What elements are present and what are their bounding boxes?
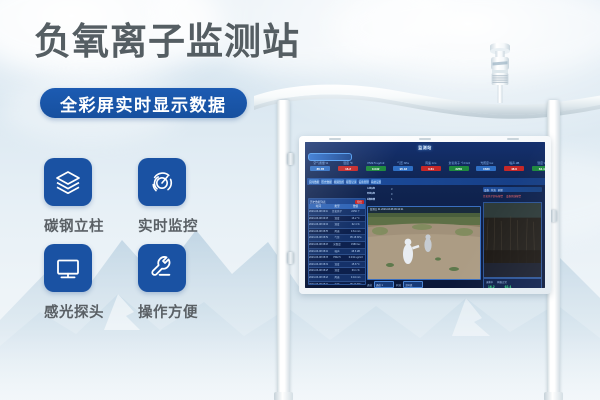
mini-stat-value: 0 (391, 193, 392, 196)
right-panel-header: 设备状态刷新 负氧离子超标报警设备离线报警 (483, 187, 542, 199)
nav-item[interactable]: 历史数据 (321, 179, 331, 184)
table-cell: 62.4 % (346, 222, 365, 228)
kpi-row: 空气质量 %85.78温度 ℃16.2PM2.5 ug/m30.032气压 hP… (307, 161, 545, 175)
export-button[interactable]: 导出 (355, 200, 364, 204)
right-toolbar-label: 设备 (484, 188, 489, 192)
status-value: 62.4 (505, 285, 512, 288)
right-toolbar[interactable]: 设备状态刷新 (483, 187, 542, 192)
table-row[interactable]: 2023-03-08 08:55:21风速0.61 m/s (309, 229, 365, 236)
kpi-item: 噪声 dB48.6 (501, 161, 528, 175)
kpi-label: 气压 hPa (398, 161, 410, 165)
video-control-label: 通道 (367, 283, 372, 287)
kpi-value: 16.2 (338, 166, 358, 171)
feature-item-steel-post[interactable]: 碳钢立柱 (44, 158, 138, 244)
station-name-pill (308, 153, 352, 161)
kpi-label: 负氧离子 个/cm3 (448, 161, 469, 165)
table-row[interactable]: 2023-03-08 09:05:21温度16.2 ℃ (309, 216, 365, 223)
status-label: 录像中 (486, 280, 493, 284)
table-cell: 2023-03-08 08:55:21 (309, 229, 328, 235)
table-row[interactable]: 2023-03-08 08:20:21风速0.44 m/s (309, 275, 365, 282)
status-value: 16.2 (488, 285, 495, 288)
kpi-label: 空气质量 % (313, 161, 328, 165)
screw (329, 138, 341, 140)
screw (419, 138, 431, 140)
table-cell: 温度 (328, 216, 347, 222)
dashboard: 监测站 空气质量 %85.78温度 ℃16.2PM2.5 ug/m30.032气… (305, 142, 545, 288)
feature-label: 实时监控 (138, 215, 224, 236)
table-cell: 风速 (328, 275, 347, 281)
table-row[interactable]: 2023-03-08 08:30:21温度15.8 ℃ (309, 262, 365, 269)
kpi-label: 噪声 dB (509, 161, 519, 165)
table-cell: 2023-03-08 08:50:21 (309, 235, 328, 241)
feature-item-easy-operation[interactable]: 操作方便 (138, 244, 232, 330)
feature-grid: 碳钢立柱 实时监控 (44, 158, 232, 330)
table-row[interactable]: 2023-03-08 08:35:21PM2.50.032 ug/m3 (309, 255, 365, 262)
feature-label: 感光探头 (44, 301, 130, 322)
history-table[interactable]: 历史数据列表 导出 时间类型数值 2023-03-08 09:10:21负氧离子… (308, 198, 366, 285)
post-base (544, 392, 563, 400)
table-cell: 2023-03-08 08:25:21 (309, 268, 328, 274)
table-cell: 湿度 (328, 222, 347, 228)
kpi-label: 光照度 lux (480, 161, 493, 165)
kpi-item: PM2.5 ug/m30.032 (362, 161, 389, 175)
table-cell: 48.6 dB (346, 249, 365, 255)
feature-item-realtime-monitor[interactable]: 实时监控 (138, 158, 232, 244)
table-row[interactable]: 2023-03-08 08:45:21光照度1580 lux (309, 242, 365, 249)
kpi-value: 1580 (476, 166, 496, 171)
kpi-value: 62.4 (532, 166, 545, 171)
kpi-item: 温度 ℃16.2 (335, 161, 362, 175)
dashboard-header: 监测站 (305, 142, 545, 153)
video-frame (368, 207, 480, 279)
table-cell: PM2.5 (328, 255, 347, 261)
kpi-value: 0.032 (366, 166, 386, 171)
mini-stat-value: 3 (391, 188, 392, 191)
table-cell: 风速 (328, 229, 347, 235)
table-cell: 0.032 ug/m3 (346, 255, 365, 261)
mini-stat: 报警数量1 (367, 198, 411, 202)
nav-item[interactable]: 实时数据 (309, 179, 319, 184)
monitoring-station: 监测站 空气质量 %85.78温度 ℃16.2PM2.5 ug/m30.032气… (258, 36, 600, 400)
alarm-list: 负氧离子超标报警设备离线报警 (483, 194, 542, 198)
table-row[interactable]: 2023-03-08 08:15:21气压95.20 hPa (309, 282, 365, 285)
table-cell: 2023-03-08 08:20:21 (309, 275, 328, 281)
subtitle-badge: 全彩屏实时显示数据 (40, 88, 247, 118)
table-cell: 2023-03-08 08:15:21 (309, 282, 328, 285)
table-cell: 噪声 (328, 249, 347, 255)
table-row[interactable]: 2023-03-08 09:10:21负氧离子2250 个 (309, 209, 365, 216)
screw (507, 138, 519, 140)
table-cell: 2023-03-08 08:35:21 (309, 255, 328, 261)
table-cell: 2023-03-08 09:10:21 (309, 209, 328, 215)
video-overlay-text: 监测点 01 2023-03-08 09:10:21 (368, 207, 480, 213)
kpi-value: 0.61 (421, 166, 441, 171)
table-title: 历史数据列表 (310, 200, 326, 204)
table-row[interactable]: 2023-03-08 09:00:21湿度62.4 % (309, 222, 365, 229)
table-cell: 2250 个 (346, 209, 365, 215)
table-cell: 温度 (328, 262, 347, 268)
table-cell: 15.8 ℃ (346, 262, 365, 268)
layers-icon (44, 158, 92, 206)
post-clamp (287, 153, 294, 165)
kpi-value: 85.78 (310, 166, 330, 171)
table-cell: 63.1 % (346, 268, 365, 274)
dashboard-title: 监测站 (418, 145, 432, 151)
mini-stat: 离线设备0 (367, 192, 411, 196)
led-screen[interactable]: 监测站 空气质量 %85.78温度 ℃16.2PM2.5 ug/m30.032气… (305, 142, 545, 288)
right-toolbar-label: 状态 (491, 188, 496, 192)
status-label: 网络正常 (497, 280, 507, 284)
table-cell: 95.18 hPa (346, 235, 365, 241)
camera-frame (484, 203, 541, 263)
mini-stat: 在线设备3 (367, 187, 411, 191)
feature-label: 操作方便 (138, 301, 224, 322)
table-cell: 湿度 (328, 268, 347, 274)
table-cell: 2023-03-08 08:30:21 (309, 262, 328, 268)
secondary-camera-feed[interactable] (483, 202, 542, 278)
table-cell: 2023-03-08 09:00:21 (309, 222, 328, 228)
kpi-label: PM2.5 ug/m3 (367, 161, 384, 165)
feature-item-light-sensor[interactable]: 感光探头 (44, 244, 138, 330)
alarm-item[interactable]: 负氧离子超标报警 (483, 194, 503, 198)
monitor-icon (44, 244, 92, 292)
table-cell: 1580 lux (346, 242, 365, 248)
kpi-item: 风速 m/s0.61 (418, 161, 445, 175)
kpi-label: 风速 m/s (425, 161, 436, 165)
kpi-item: 负氧离子 个/cm32250 (445, 161, 472, 175)
table-cell: 气压 (328, 235, 347, 241)
table-cell: 16.2 ℃ (346, 216, 365, 222)
table-cell: 95.20 hPa (346, 282, 365, 285)
table-cell: 0.44 m/s (346, 275, 365, 281)
left-support-post (277, 100, 290, 400)
video-select[interactable]: 主码流 (403, 281, 423, 288)
mini-stat-label: 报警数量 (367, 198, 389, 202)
table-cell: 2023-03-08 08:45:21 (309, 242, 328, 248)
alarm-item[interactable]: 设备离线报警 (506, 194, 521, 198)
refresh-button[interactable]: 刷新 (498, 188, 503, 192)
kpi-item: 湿度 %62.4 (528, 161, 545, 175)
nav-item[interactable]: 系统设置 (371, 179, 381, 184)
mini-stats: 在线设备3离线设备0报警数量1 (367, 187, 411, 203)
mini-stat-label: 在线设备 (367, 187, 389, 191)
video-controls[interactable]: 通道通道 1码流主码流 (367, 281, 479, 288)
radar-icon (138, 158, 186, 206)
post-clamp (550, 210, 557, 222)
table-cell: 2023-03-08 08:40:21 (309, 249, 328, 255)
promo-banner: 负氧离子监测站 全彩屏实时显示数据 碳钢立柱 (0, 0, 600, 400)
table-row[interactable]: 2023-03-08 08:40:21噪声48.6 dB (309, 249, 365, 256)
kpi-value: 48.6 (504, 166, 524, 171)
nav-item[interactable]: 设备管理 (359, 179, 369, 184)
post-base (274, 392, 293, 400)
table-cell: 负氧离子 (328, 209, 347, 215)
kpi-label: 湿度 % (537, 161, 545, 165)
table-body: 2023-03-08 09:10:21负氧离子2250 个2023-03-08 … (309, 209, 365, 285)
video-feed[interactable]: 监测点 01 2023-03-08 09:10:21 (367, 206, 481, 280)
mini-stat-label: 离线设备 (367, 192, 389, 196)
kpi-item: 空气质量 %85.78 (307, 161, 334, 175)
kpi-value: 2250 (449, 166, 469, 171)
dashboard-nav[interactable]: 实时数据历史数据视频监控报警记录设备管理系统设置 (307, 178, 545, 185)
status-values: 16.262.4 (484, 285, 541, 288)
table-row[interactable]: 2023-03-08 08:50:21气压95.18 hPa (309, 235, 365, 242)
nav-item[interactable]: 报警记录 (346, 179, 356, 184)
display-panel: 监测站 空气质量 %85.78温度 ℃16.2PM2.5 ug/m30.032气… (299, 136, 551, 294)
post-clamp (287, 252, 294, 264)
video-select[interactable]: 通道 1 (374, 281, 394, 288)
table-cell: 2023-03-08 09:05:21 (309, 216, 328, 222)
kpi-item: 气压 hPa95.18 (390, 161, 417, 175)
wrench-icon (138, 244, 186, 292)
kpi-value: 95.18 (393, 166, 413, 171)
video-control-label: 码流 (396, 283, 401, 287)
table-cell: 光照度 (328, 242, 347, 248)
table-row[interactable]: 2023-03-08 08:25:21湿度63.1 % (309, 268, 365, 275)
table-cell: 0.61 m/s (346, 229, 365, 235)
kpi-item: 光照度 lux1580 (473, 161, 500, 175)
mini-stat-value: 1 (391, 198, 392, 201)
feature-label: 碳钢立柱 (44, 215, 130, 236)
kpi-label: 温度 ℃ (343, 161, 353, 165)
table-cell: 气压 (328, 282, 347, 285)
nav-item[interactable]: 视频监控 (334, 179, 344, 184)
status-readout: 录像中网络正常 16.262.4 (483, 278, 542, 288)
